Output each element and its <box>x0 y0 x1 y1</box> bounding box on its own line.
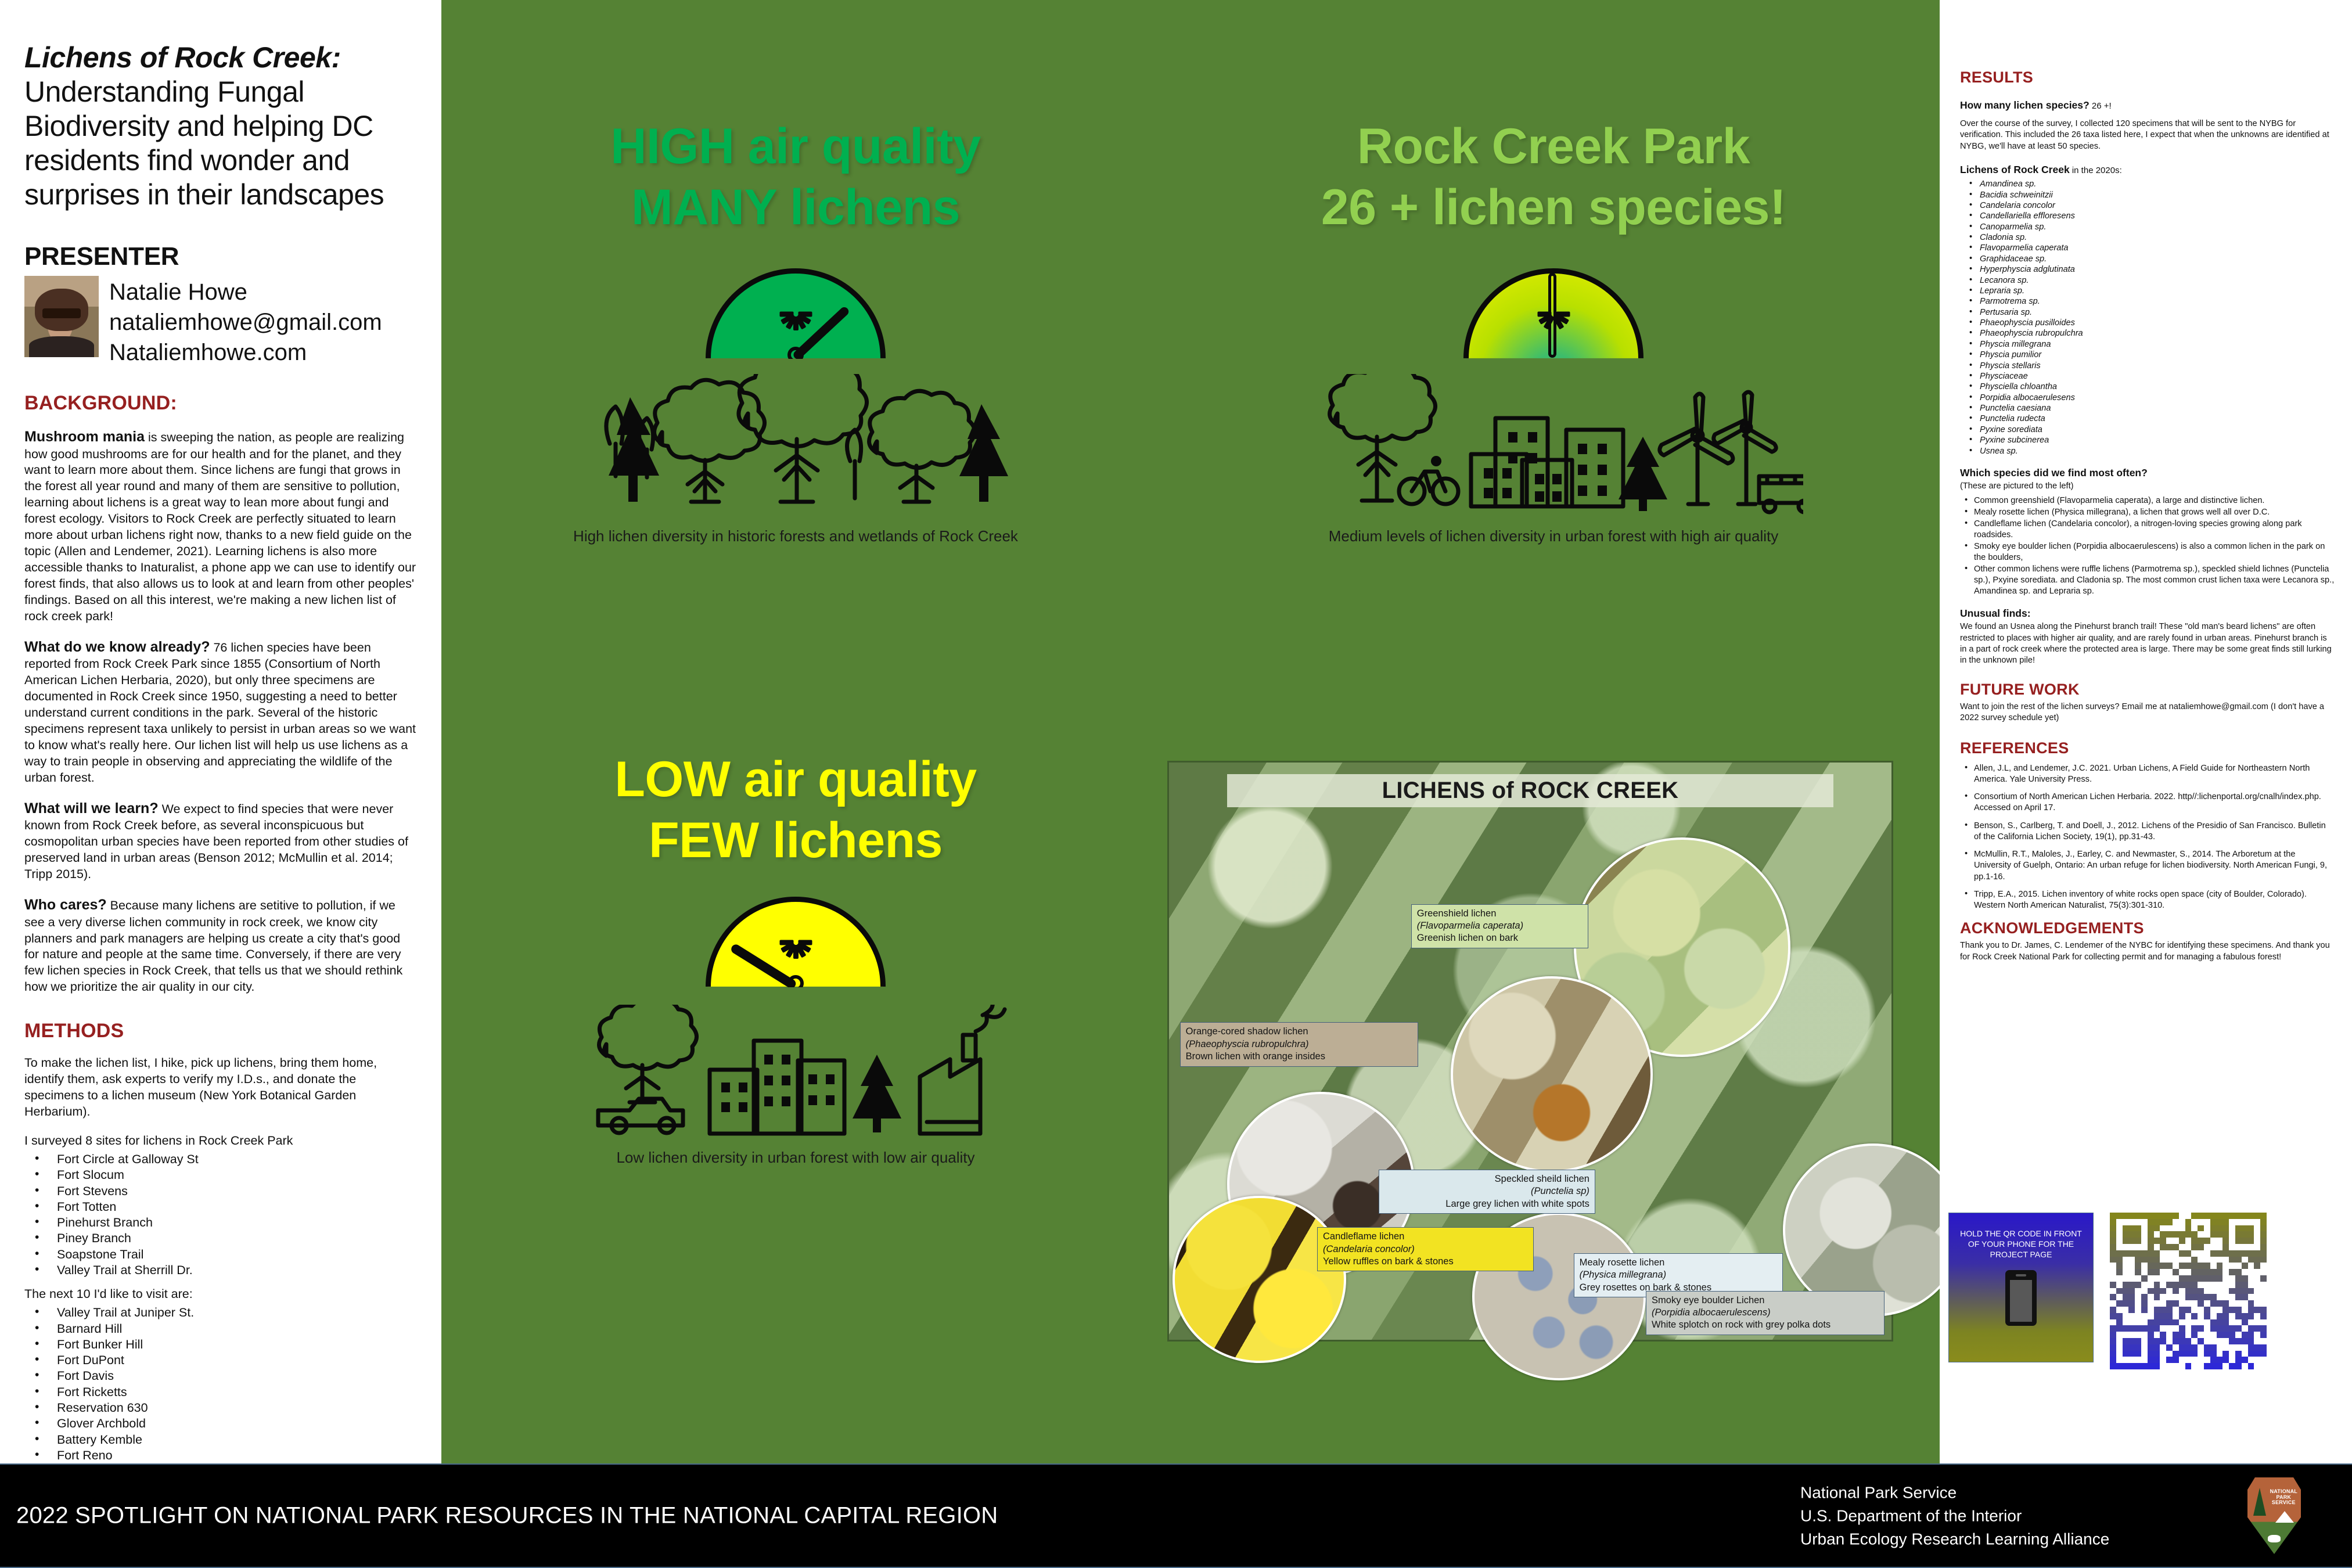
list-item-species: Phaeophyscia pusilloides <box>1960 318 2335 328</box>
background-p1-lead: Mushroom mania <box>24 429 145 445</box>
list-item-reference: Tripp, E.A., 2015. Lichen inventory of w… <box>1960 889 2335 912</box>
presenter-website[interactable]: Nataliemhowe.com <box>109 337 382 368</box>
lichen-collage: LICHENS of ROCK CREEK Greenshield lichen… <box>1167 761 1893 1342</box>
gauge-high-icon <box>706 268 886 360</box>
footer-agency-line-3: Urban Ecology Research Learning Alliance <box>1800 1527 2109 1551</box>
page-title: Lichens of Rock Creek: Understanding Fun… <box>24 41 417 212</box>
list-item-species: Pyxine sorediata <box>1960 425 2335 435</box>
list-item-future-site: Fort Bunker Hill <box>24 1337 417 1353</box>
methods-intro: To make the lichen list, I hike, pick up… <box>24 1055 417 1120</box>
lichen-common-name: Speckled sheild lichen <box>1384 1173 1589 1185</box>
list-item-site: Fort Stevens <box>24 1184 417 1199</box>
label-smoky-eye-boulder-lichen: Smoky eye boulder Lichen(Porpidia alboca… <box>1646 1291 1885 1335</box>
qr-code-image[interactable] <box>2110 1213 2267 1369</box>
footer-agency-line-1: National Park Service <box>1800 1481 2109 1504</box>
list-item-species: Pyxine subcinerea <box>1960 435 2335 445</box>
references-heading: REFERENCES <box>1960 739 2335 757</box>
list-item-future-site: Battery Kemble <box>24 1432 417 1448</box>
list-item-species: Lecanora sp. <box>1960 275 2335 286</box>
list-item-common-species: Candleflame lichen (Candelaria concolor)… <box>1960 519 2335 541</box>
list-item-species: Physcia stellaris <box>1960 361 2335 371</box>
lichen-scientific-name: (Porpidia albocaerulescens) <box>1652 1307 1879 1319</box>
list-item-species: Cladonia sp. <box>1960 232 2335 243</box>
nps-logo-line-3: SERVICE <box>2270 1500 2297 1506</box>
most-often-bullets: Common greenshield (Flavoparmelia capera… <box>1960 495 2335 597</box>
label-candleflame-lichen: Candleflame lichen(Candelaria concolor)Y… <box>1317 1227 1534 1271</box>
lichen-common-name: Candleflame lichen <box>1323 1231 1528 1243</box>
panel-low-line1: LOW air quality <box>462 749 1130 810</box>
background-p2-text: 76 lichen species have been reported fro… <box>24 641 416 785</box>
photo-candleflame-lichen <box>1173 1196 1346 1363</box>
results-heading: RESULTS <box>1960 69 2335 87</box>
list-item-species: Porpidia albocaerulesens <box>1960 393 2335 403</box>
gauge-medium-icon <box>1463 268 1643 360</box>
list-item-site: Soapstone Trail <box>24 1247 417 1263</box>
panel-park-line1: Rock Creek Park <box>1191 116 1916 177</box>
list-item-site: Fort Slocum <box>24 1167 417 1183</box>
panel-high-caption: High lichen diversity in historic forest… <box>462 527 1130 546</box>
next-sites-list: Valley Trail at Juniper St.Barnard HillF… <box>24 1305 417 1463</box>
background-paragraph-1: Mushroom mania is sweeping the nation, a… <box>24 427 417 625</box>
surveyed-sites-list: Fort Circle at Galloway StFort SlocumFor… <box>24 1152 417 1278</box>
list-item-species: Physcia millegrana <box>1960 339 2335 350</box>
list-item-common-species: Common greenshield (Flavoparmelia capera… <box>1960 495 2335 506</box>
background-p3-lead: What will we learn? <box>24 800 159 817</box>
lichen-scientific-name: (Candelaria concolor) <box>1323 1243 1528 1256</box>
species-list-heading: Lichens of Rock Creek in the 2020s: <box>1960 164 2335 176</box>
urban-park-icon <box>1191 374 1916 522</box>
lichen-common-name: Orange-cored shadow lichen <box>1186 1026 1413 1038</box>
list-item-future-site: Barnard Hill <box>24 1321 417 1337</box>
list-item-site: Pinehurst Branch <box>24 1215 417 1231</box>
list-item-species: Physciaceae <box>1960 371 2335 382</box>
list-item-species: Punctelia caesiana <box>1960 403 2335 413</box>
presenter-heading: PRESENTER <box>24 242 417 271</box>
lichen-common-name: Greenshield lichen <box>1417 908 1583 920</box>
list-item-species: Flavoparmelia caperata <box>1960 243 2335 253</box>
list-item-species: Canoparmelia sp. <box>1960 222 2335 232</box>
results-q1-answer: 26 +! <box>2090 101 2112 111</box>
list-item-future-site: Valley Trail at Juniper St. <box>24 1305 417 1321</box>
species-list-rest: in the 2020s: <box>2070 166 2122 175</box>
list-item-site: Fort Totten <box>24 1199 417 1215</box>
results-q1-lead: How many lichen species? <box>1960 99 2090 111</box>
unusual-finds-body: We found an Usnea along the Pinehurst br… <box>1960 621 2335 667</box>
list-item-future-site: Glover Archbold <box>24 1416 417 1432</box>
panel-rock-creek-park: Rock Creek Park 26 + lichen species! <box>1191 116 1916 545</box>
list-item-species: Pertusaria sp. <box>1960 307 2335 318</box>
center-green-panel: HIGH air quality MANY lichens <box>441 0 1940 1463</box>
panel-high-line2: MANY lichens <box>462 177 1130 238</box>
label-greenshield-lichen: Greenshield lichen(Flavoparmelia caperat… <box>1411 904 1588 948</box>
background-paragraph-4: Who cares? Because many lichens are seti… <box>24 896 417 995</box>
lichen-common-name: Mealy rosette lichen <box>1580 1257 1778 1269</box>
lichen-description: Greenish lichen on bark <box>1417 932 1583 944</box>
qr-promo-panel: HOLD THE QR CODE IN FRONT OF YOUR PHONE … <box>1948 1213 2094 1362</box>
presenter-details: Natalie Howe nataliemhowe@gmail.com Nata… <box>109 276 382 368</box>
list-item-species: Amandinea sp. <box>1960 179 2335 189</box>
qr-promo-text: HOLD THE QR CODE IN FRONT OF YOUR PHONE … <box>1949 1228 2093 1260</box>
references-list: Allen, J.L, and Lendemer, J.C. 2021. Urb… <box>1960 763 2335 912</box>
footer-bar: 2022 SPOTLIGHT ON NATIONAL PARK RESOURCE… <box>0 1463 2352 1568</box>
panel-park-line2: 26 + lichen species! <box>1191 177 1916 238</box>
background-p1-text: is sweeping the nation, as people are re… <box>24 430 416 623</box>
avatar <box>24 276 99 357</box>
list-item-species: Parmotrema sp. <box>1960 296 2335 307</box>
results-q1: How many lichen species? 26 +! <box>1960 99 2335 112</box>
label-orange-cored-shadow-lichen: Orange-cored shadow lichen(Phaeophyscia … <box>1180 1022 1419 1066</box>
list-item-future-site: Fort Davis <box>24 1368 417 1384</box>
phone-icon <box>2005 1270 2037 1326</box>
title-italic: Lichens of Rock Creek: <box>24 41 341 74</box>
lichen-description: Yellow ruffles on bark & stones <box>1323 1256 1528 1268</box>
presenter-name: Natalie Howe <box>109 277 382 307</box>
list-item-species: Physcia pumilior <box>1960 350 2335 360</box>
footer-agency-line-2: U.S. Department of the Interior <box>1800 1504 2109 1527</box>
future-work-heading: FUTURE WORK <box>1960 681 2335 699</box>
panel-high-air-quality: HIGH air quality MANY lichens <box>462 116 1130 545</box>
footer-banner-text: 2022 SPOTLIGHT ON NATIONAL PARK RESOURCE… <box>16 1503 998 1529</box>
panel-low-line2: FEW lichens <box>462 810 1130 871</box>
list-item-species: Physciella chloantha <box>1960 382 2335 392</box>
list-item-species: Phaeophyscia rubropulchra <box>1960 328 2335 339</box>
background-heading: BACKGROUND: <box>24 392 417 415</box>
background-paragraph-3: What will we learn? We expect to find sp… <box>24 799 417 883</box>
left-column: Lichens of Rock Creek: Understanding Fun… <box>0 0 441 1463</box>
list-item-species: Candellariella effloresens <box>1960 211 2335 221</box>
lichen-common-name: Smoky eye boulder Lichen <box>1652 1294 1879 1307</box>
list-item-future-site: Fort Ricketts <box>24 1384 417 1400</box>
species-list-lead: Lichens of Rock Creek <box>1960 164 2070 175</box>
presenter-block: Natalie Howe nataliemhowe@gmail.com Nata… <box>24 276 417 368</box>
lichen-description: Large grey lichen with white spots <box>1384 1198 1589 1210</box>
panel-park-caption: Medium levels of lichen diversity in urb… <box>1191 527 1916 546</box>
list-item-future-site: Reservation 630 <box>24 1400 417 1416</box>
methods-next-heading: The next 10 I'd like to visit are: <box>24 1286 417 1303</box>
lichen-description: Brown lichen with orange insides <box>1186 1051 1413 1063</box>
list-item-species: Hyperphyscia adglutinata <box>1960 264 2335 275</box>
qr-block: HOLD THE QR CODE IN FRONT OF YOUR PHONE … <box>1948 1213 2267 1369</box>
background-paragraph-2: What do we know already? 76 lichen speci… <box>24 638 417 786</box>
list-item-reference: Allen, J.L, and Lendemer, J.C. 2021. Urb… <box>1960 763 2335 786</box>
list-item-future-site: Fort DuPont <box>24 1353 417 1368</box>
future-work-body: Want to join the rest of the lichen surv… <box>1960 702 2335 724</box>
background-p4-lead: Who cares? <box>24 897 107 913</box>
list-item-species: Usnea sp. <box>1960 446 2335 456</box>
national-park-service-arrowhead-icon: NATIONAL PARK SERVICE <box>2247 1477 2301 1554</box>
panel-high-line1: HIGH air quality <box>462 116 1130 177</box>
list-item-reference: McMullin, R.T., Maloles, J., Earley, C. … <box>1960 849 2335 883</box>
list-item-species: Punctelia rudecta <box>1960 413 2335 424</box>
list-item-species: Lepraria sp. <box>1960 286 2335 296</box>
acknowledgements-body: Thank you to Dr. James, C. Lendemer of t… <box>1960 940 2335 963</box>
results-q2-lead: Which species did we find most often? <box>1960 467 2335 479</box>
presenter-email[interactable]: nataliemhowe@gmail.com <box>109 307 382 337</box>
list-item-common-species: Other common lichens were ruffle lichens… <box>1960 564 2335 597</box>
photo-orange-cored-shadow-lichen <box>1451 976 1653 1173</box>
methods-surveyed-heading: I surveyed 8 sites for lichens in Rock C… <box>24 1133 417 1149</box>
lichen-scientific-name: (Physica millegrana) <box>1580 1269 1778 1281</box>
panel-low-air-quality: LOW air quality FEW lichens <box>462 749 1130 1167</box>
list-item-common-species: Smoky eye boulder lichen (Porpidia alboc… <box>1960 541 2335 563</box>
list-item-site: Fort Circle at Galloway St <box>24 1152 417 1167</box>
collage-title: LICHENS of ROCK CREEK <box>1227 774 1834 807</box>
list-item-species: Bacidia schweinitzii <box>1960 190 2335 200</box>
results-q2-note: (These are pictured to the left) <box>1960 481 2335 492</box>
background-p2-lead: What do we know already? <box>24 639 210 655</box>
lichen-description: White splotch on rock with grey polka do… <box>1652 1319 1879 1331</box>
list-item-future-site: Fort Reno <box>24 1448 417 1463</box>
title-subtitle: Understanding Fungal Biodiversity and he… <box>24 75 417 212</box>
methods-heading: METHODS <box>24 1020 417 1042</box>
lichen-scientific-name: (Phaeophyscia rubropulchra) <box>1186 1038 1413 1051</box>
lichen-scientific-name: (Flavoparmelia caperata) <box>1417 920 1583 932</box>
list-item-site: Valley Trail at Sherrill Dr. <box>24 1263 417 1278</box>
lichen-scientific-name: (Punctelia sp) <box>1384 1185 1589 1197</box>
list-item-common-species: Mealy rosette lichen (Physica millegrana… <box>1960 507 2335 518</box>
species-list: Amandinea sp.Bacidia schweinitziiCandela… <box>1960 179 2335 456</box>
label-speckled-shield-lichen: Speckled sheild lichen(Punctelia sp)Larg… <box>1379 1170 1595 1214</box>
acknowledgements-heading: ACKNOWLEDGEMENTS <box>1960 919 2335 937</box>
list-item-species: Graphidaceae sp. <box>1960 254 2335 264</box>
list-item-reference: Consortium of North American Lichen Herb… <box>1960 792 2335 814</box>
panel-low-caption: Low lichen diversity in urban forest wit… <box>462 1148 1130 1167</box>
list-item-reference: Benson, S., Carlberg, T. and Doell, J., … <box>1960 821 2335 843</box>
results-q1-body: Over the course of the survey, I collect… <box>1960 118 2335 152</box>
gauge-low-icon <box>706 897 886 988</box>
list-item-site: Piney Branch <box>24 1231 417 1246</box>
footer-agency-block: National Park Service U.S. Department of… <box>1800 1481 2109 1550</box>
poster-canvas: Lichens of Rock Creek: Understanding Fun… <box>0 0 2352 1568</box>
list-item-species: Candelaria concolor <box>1960 200 2335 211</box>
unusual-finds-heading: Unusual finds: <box>1960 607 2335 620</box>
